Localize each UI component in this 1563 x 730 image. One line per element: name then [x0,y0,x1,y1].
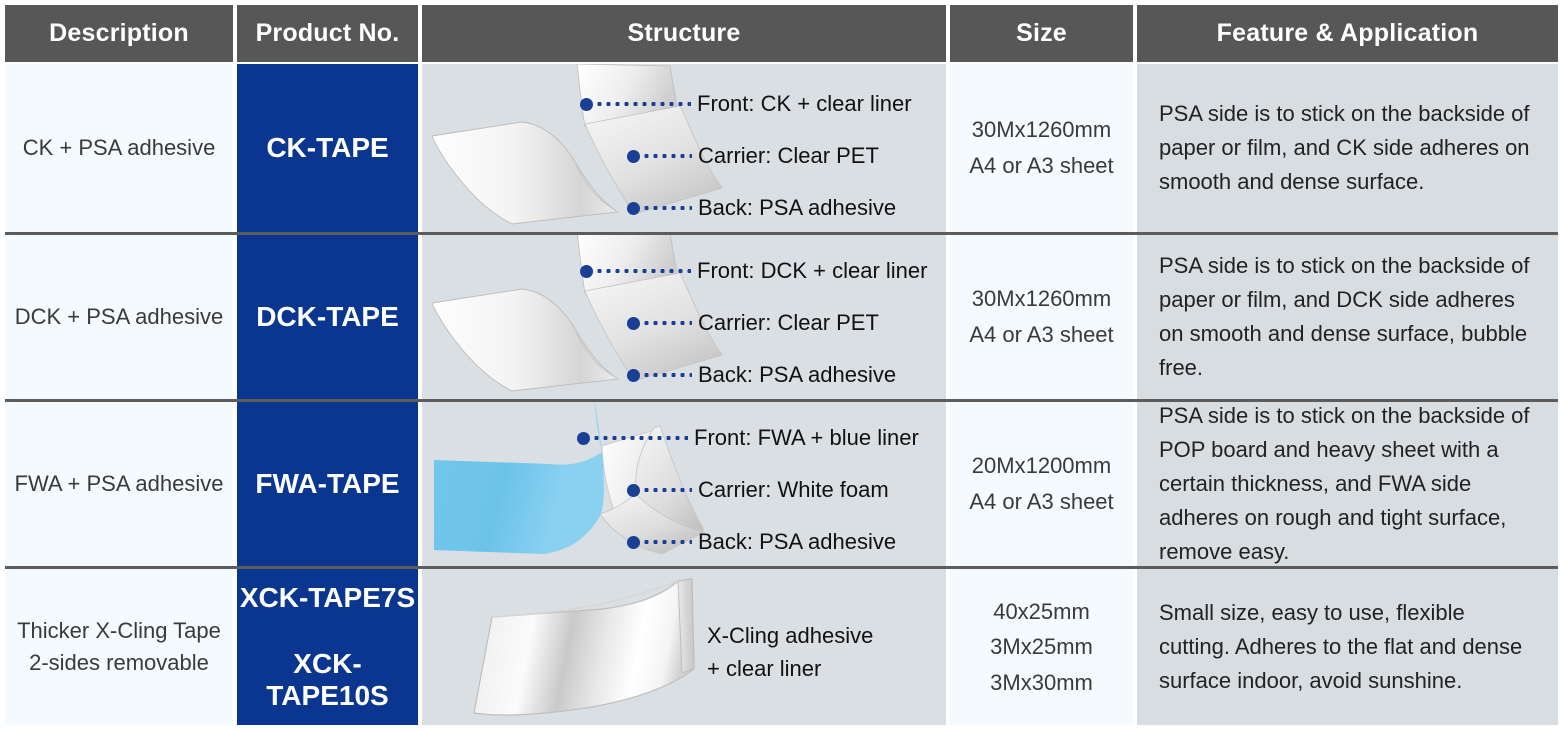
callout-back: Back: PSA adhesive [627,362,896,388]
description-text: Thicker X-Cling Tape2-sides removable [17,615,221,679]
callout-leader-line [592,436,688,440]
callout-dot-icon [627,150,640,163]
callout-label-back: Back: PSA adhesive [698,195,896,221]
description-text: CK + PSA adhesive [23,132,216,164]
callout-dot-icon [580,98,593,111]
callout-dot-icon [627,317,640,330]
table-row-4-structure: X-Cling adhesive+ clear liner [422,569,946,725]
callout-dot-icon [627,369,640,382]
feature-text: PSA side is to stick on the backside of … [1159,249,1536,385]
table-row-1-structure: Front: CK + clear liner Carrier: Clear P… [422,64,946,232]
callout-front: Front: CK + clear liner [580,91,912,117]
callout-leader-line [642,488,692,492]
callout-dot-icon [577,432,590,445]
callout-dot-icon [627,536,640,549]
callout-back: Back: PSA adhesive [627,195,896,221]
callout-label-back: Back: PSA adhesive [698,529,896,555]
table-row-1-product-no: CK-TAPE [237,64,418,232]
callout-label-back: Back: PSA adhesive [698,362,896,388]
callout-carrier: Carrier: White foam [627,477,889,503]
table-row-2-description: DCK + PSA adhesive [5,235,233,399]
header-label-description: Description [49,19,189,48]
header-label-feature: Feature & Application [1217,19,1479,48]
column-header-structure: Structure [422,5,946,62]
header-label-size: Size [1016,19,1067,48]
callout-leader-line [595,102,691,106]
table-row-2-feature: PSA side is to stick on the backside of … [1137,235,1558,399]
table-row-3-description: FWA + PSA adhesive [5,402,233,566]
callout-dot-icon [580,265,593,278]
table-row-4-description: Thicker X-Cling Tape2-sides removable [5,569,233,725]
table-row-2-structure: Front: DCK + clear liner Carrier: Clear … [422,235,946,399]
table-row-4-size: 40x25mm3Mx25mm3Mx30mm [950,569,1133,725]
column-header-size: Size [950,5,1133,62]
callout-label-front: Front: CK + clear liner [697,91,912,117]
table-row-3-feature: PSA side is to stick on the backside of … [1137,402,1558,566]
table-row-1-size: 30Mx1260mmA4 or A3 sheet [950,64,1133,232]
description-text: DCK + PSA adhesive [15,301,224,333]
description-text: FWA + PSA adhesive [15,468,224,500]
table-row-2-size: 30Mx1260mmA4 or A3 sheet [950,235,1133,399]
column-header-feature: Feature & Application [1137,5,1558,62]
column-header-product-no: Product No. [237,5,418,62]
table-row-4-product-no: XCK-TAPE7S XCK-TAPE10S [237,569,418,725]
feature-text: PSA side is to stick on the backside of … [1159,97,1536,199]
table-row-3-size: 20Mx1200mmA4 or A3 sheet [950,402,1133,566]
callout-leader-line [642,321,692,325]
callout-leader-line [642,373,692,377]
size-text: 30Mx1260mmA4 or A3 sheet [969,281,1113,352]
callout-label-carrier: Carrier: White foam [698,477,889,503]
callout-dot-icon [627,202,640,215]
callout-carrier: Carrier: Clear PET [627,143,879,169]
product-code: CK-TAPE [266,132,388,164]
table-row-3-product-no: FWA-TAPE [237,402,418,566]
callout-back: Back: PSA adhesive [627,529,896,555]
callout-front: Front: DCK + clear liner [580,258,927,284]
callout-leader-line [642,206,692,210]
callout-front: Front: FWA + blue liner [577,425,919,451]
size-text: 20Mx1200mmA4 or A3 sheet [969,448,1113,519]
callout-dot-icon [627,484,640,497]
product-code: FWA-TAPE [255,468,399,500]
product-code-secondary: XCK-TAPE10S [237,648,418,712]
header-label-structure: Structure [628,19,741,48]
product-code: XCK-TAPE7S [240,582,415,614]
structure-plain-label: X-Cling adhesive+ clear liner [707,619,873,685]
size-text: 30Mx1260mmA4 or A3 sheet [969,112,1113,183]
table-row-4-feature: Small size, easy to use, flexible cuttin… [1137,569,1558,725]
structure-plain-label-text: X-Cling adhesive+ clear liner [707,619,873,685]
callout-leader-line [642,540,692,544]
table-row-3-structure: Front: FWA + blue liner Carrier: White f… [422,402,946,566]
table-row-2-product-no: DCK-TAPE [237,235,418,399]
callout-leader-line [642,154,692,158]
column-header-description: Description [5,5,233,62]
feature-text: Small size, easy to use, flexible cuttin… [1159,596,1536,698]
table-row-1-description: CK + PSA adhesive [5,64,233,232]
callout-label-carrier: Carrier: Clear PET [698,143,879,169]
callout-leader-line [595,269,691,273]
header-label-product-no: Product No. [256,19,400,48]
product-code: DCK-TAPE [256,301,399,333]
callout-label-carrier: Carrier: Clear PET [698,310,879,336]
callout-label-front: Front: FWA + blue liner [694,425,919,451]
size-text: 40x25mm3Mx25mm3Mx30mm [990,594,1093,701]
callout-carrier: Carrier: Clear PET [627,310,879,336]
feature-text: PSA side is to stick on the backside of … [1159,399,1536,569]
callout-label-front: Front: DCK + clear liner [697,258,927,284]
product-comparison-table: Description Product No. Structure Size F… [0,0,1563,730]
table-row-1-feature: PSA side is to stick on the backside of … [1137,64,1558,232]
